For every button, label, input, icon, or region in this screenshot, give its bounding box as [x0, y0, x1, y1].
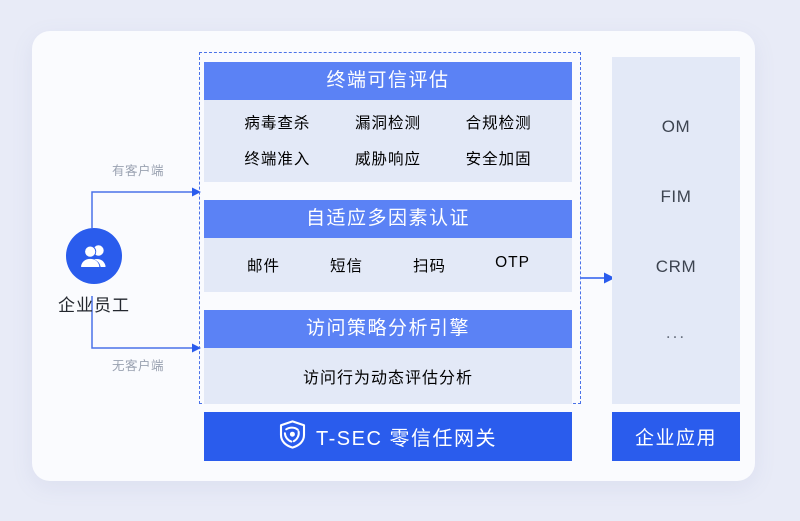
block-terminal-body: 病毒查杀 漏洞检测 合规检测 终端准入 威胁响应 安全加固: [204, 100, 572, 182]
app-item-om[interactable]: OM: [612, 117, 740, 137]
block-terminal-item[interactable]: 终端准入: [222, 147, 333, 169]
block-mfa-title: 自适应多因素认证: [204, 200, 572, 238]
connector-label-with-client: 有客户端: [112, 160, 164, 179]
block-terminal-trust-evaluation: 终端可信评估 病毒查杀 漏洞检测 合规检测 终端准入 威胁响应 安全加固: [204, 62, 572, 182]
connector-label-without-client: 无客户端: [112, 355, 164, 374]
block-terminal-item[interactable]: 安全加固: [443, 147, 554, 169]
block-access-policy-engine: 访问策略分析引擎 访问行为动态评估分析: [204, 310, 572, 404]
block-mfa-item[interactable]: OTP: [471, 254, 554, 276]
users-icon: [66, 228, 122, 284]
app-item-crm[interactable]: CRM: [612, 257, 740, 277]
enterprise-apps-column: OM FIM CRM ...: [612, 57, 740, 404]
block-mfa-item[interactable]: 短信: [305, 254, 388, 276]
enterprise-apps-footer: 企业应用: [612, 412, 740, 461]
app-item-fim[interactable]: FIM: [612, 187, 740, 207]
app-item-more[interactable]: ...: [612, 323, 740, 343]
block-terminal-item[interactable]: 病毒查杀: [222, 111, 333, 133]
diagram-canvas: 企业员工 有客户端 无客户端 终端可信评估 病毒查杀 漏洞检测 合规检测 终端准…: [0, 0, 800, 521]
block-terminal-item[interactable]: 合规检测: [443, 111, 554, 133]
block-policy-title: 访问策略分析引擎: [204, 310, 572, 348]
block-terminal-item[interactable]: 漏洞检测: [333, 111, 444, 133]
block-terminal-item[interactable]: 威胁响应: [333, 147, 444, 169]
block-policy-item[interactable]: 访问行为动态评估分析: [303, 364, 473, 388]
block-adaptive-mfa: 自适应多因素认证 邮件 短信 扫码 OTP: [204, 200, 572, 292]
block-mfa-item[interactable]: 邮件: [222, 254, 305, 276]
employee-label: 企业员工: [44, 291, 144, 316]
shield-icon: [279, 420, 306, 454]
gateway-bar[interactable]: T-SEC 零信任网关: [204, 412, 572, 461]
employee-actor: 企业员工: [44, 228, 144, 316]
gateway-label: T-SEC 零信任网关: [316, 422, 497, 451]
block-policy-body: 访问行为动态评估分析: [204, 348, 572, 404]
block-terminal-title: 终端可信评估: [204, 62, 572, 100]
block-mfa-body: 邮件 短信 扫码 OTP: [204, 238, 572, 292]
block-mfa-item[interactable]: 扫码: [388, 254, 471, 276]
